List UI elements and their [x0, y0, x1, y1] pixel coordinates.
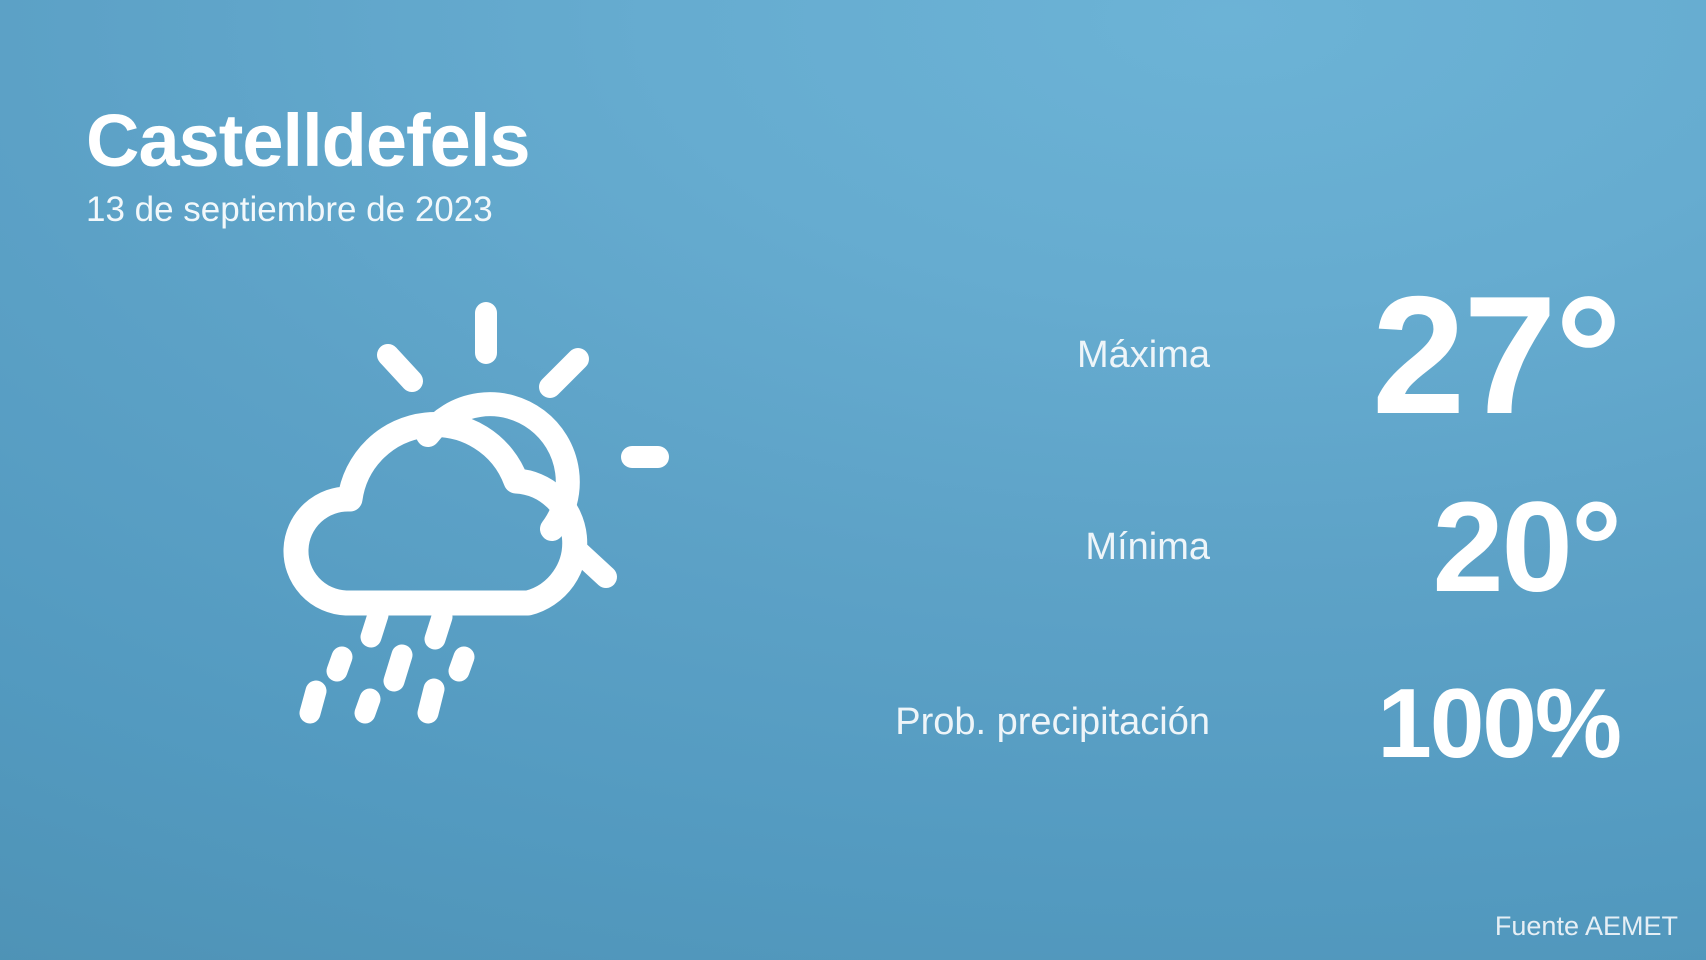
forecast-date: 13 de septiembre de 2023 [86, 192, 986, 227]
rain-drops-icon [310, 615, 464, 713]
reading-row-minima: Mínima 20° [600, 455, 1620, 640]
header: Castelldefels 13 de septiembre de 2023 [86, 104, 986, 227]
readings-panel: Máxima 27° Mínima 20° Prob. precipitació… [600, 255, 1620, 805]
page-title: Castelldefels [86, 104, 986, 178]
reading-row-precipitacion: Prob. precipitación 100% [600, 640, 1620, 805]
minima-value: 20° [1210, 484, 1620, 612]
minima-label: Mínima [1085, 526, 1210, 569]
weather-card: Castelldefels 13 de septiembre de 2023 [0, 0, 1706, 960]
precipitacion-label: Prob. precipitación [895, 701, 1210, 744]
maxima-value: 27° [1210, 271, 1620, 439]
precipitacion-value: 100% [1210, 674, 1620, 772]
reading-row-maxima: Máxima 27° [600, 255, 1620, 455]
cloud-icon [296, 425, 575, 603]
maxima-label: Máxima [1077, 334, 1210, 377]
source-attribution: Fuente AEMET [1495, 911, 1678, 942]
